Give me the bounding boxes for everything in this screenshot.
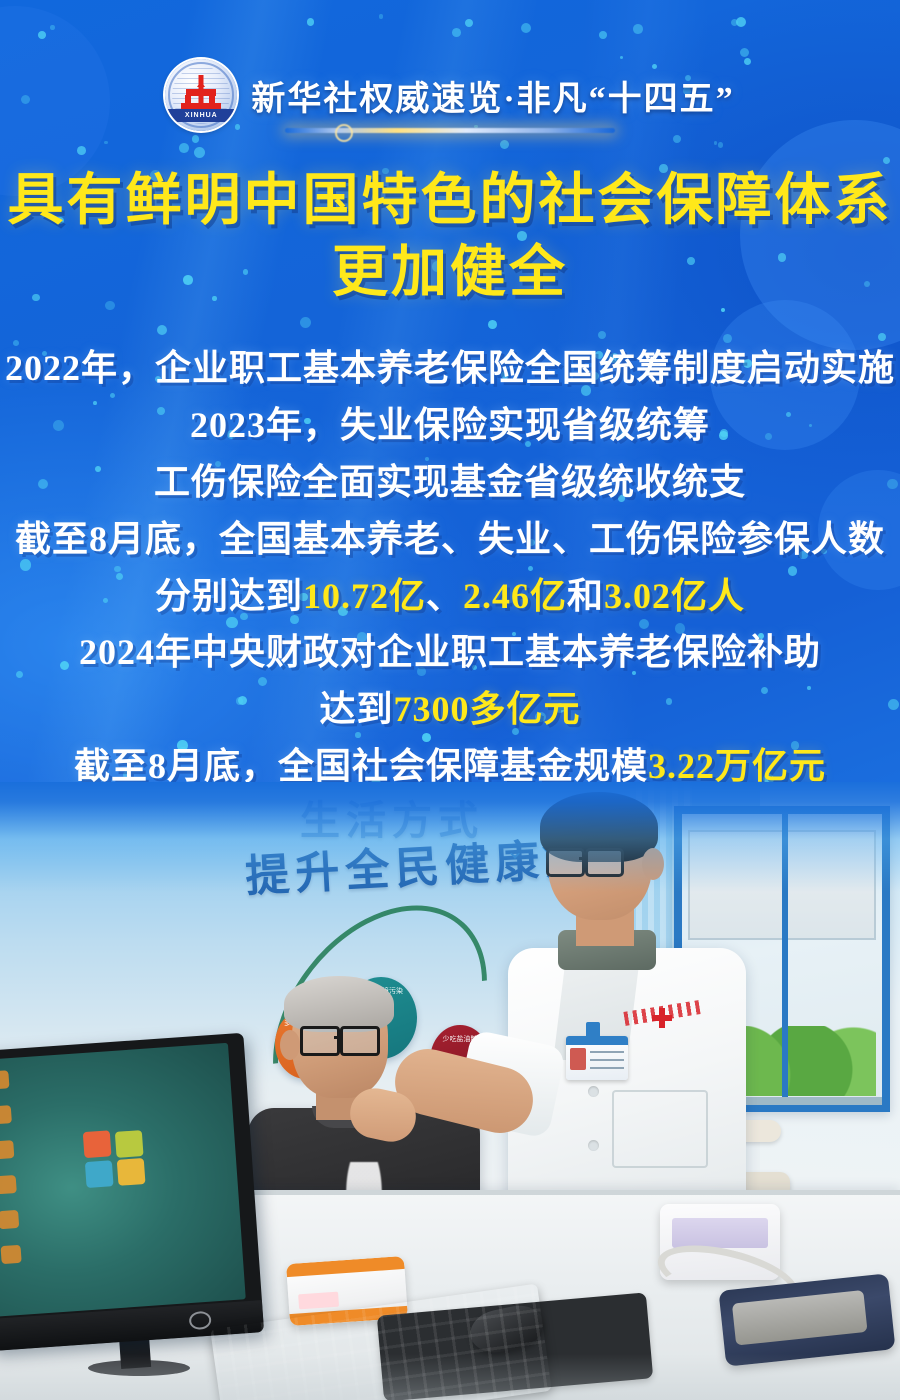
highlight-figure: 10.72亿 xyxy=(303,576,426,616)
body-text-segment: 2022年，企业职工基本养老保险全国统筹制度启动实施 xyxy=(5,348,895,388)
doctor-glasses-icon xyxy=(546,848,620,871)
body-text-segment: 截至8月底，全国基本养老、失业、工伤保险参保人数 xyxy=(15,519,885,559)
body-text-segment: 分别达到 xyxy=(155,576,303,616)
background-dot xyxy=(179,143,189,153)
body-text-segment: 达到 xyxy=(319,689,393,729)
background-dot xyxy=(599,31,607,39)
background-dot xyxy=(598,331,606,339)
body-text-line: 2024年中央财政对企业职工基本养老保险补助 xyxy=(0,624,900,681)
background-dot xyxy=(50,25,54,29)
highlight-figure: 7300多亿元 xyxy=(394,689,581,729)
background-dot xyxy=(731,19,738,26)
background-dot xyxy=(379,14,383,18)
highlight-figure: 3.02亿人 xyxy=(604,576,745,616)
body-text-segment: 2024年中央财政对企业职工基本养老保险补助 xyxy=(79,632,821,672)
patient-glasses-icon xyxy=(300,1026,376,1050)
background-dot xyxy=(194,147,205,158)
highlight-figure: 2.46亿 xyxy=(463,576,567,616)
background-dot xyxy=(38,31,46,39)
body-text-line: 2022年，企业职工基本养老保险全国统筹制度启动实施 xyxy=(0,340,900,397)
page-title: 具有鲜明中国特色的社会保障体系 更加健全 xyxy=(0,166,900,309)
header-divider xyxy=(285,128,615,133)
background-dot xyxy=(104,141,108,145)
body-text-line: 截至8月底，全国基本养老、失业、工伤保险参保人数 xyxy=(0,511,900,568)
page-title-line-1: 具有鲜明中国特色的社会保障体系 xyxy=(0,166,900,238)
body-text-line: 2023年，失业保险实现省级统筹 xyxy=(0,397,900,454)
body-text-line: 工伤保险全面实现基金省级统收统支 xyxy=(0,454,900,511)
body-text-line: 分别达到10.72亿、2.46亿和3.02亿人 xyxy=(0,568,900,625)
background-dot xyxy=(736,17,746,27)
poster-root: XINHUA 新华社权威速览·非凡“十四五” 具有鲜明中国特色的社会保障体系 更… xyxy=(0,0,900,1400)
background-dot xyxy=(488,320,497,329)
background-dot xyxy=(77,146,86,155)
computer-monitor xyxy=(0,1033,264,1352)
hp-brand-logo xyxy=(189,1311,212,1330)
background-dot xyxy=(500,140,509,149)
header: XINHUA 新华社权威速览·非凡“十四五” xyxy=(0,52,900,138)
body-text-segment: 2023年，失业保险实现省级统筹 xyxy=(190,405,710,445)
page-title-line-2: 更加健全 xyxy=(0,238,900,310)
body-text-segment: 工伤保险全面实现基金省级统收统支 xyxy=(154,462,746,502)
background-dot xyxy=(452,28,461,37)
background-dot xyxy=(714,141,717,144)
photo-panel: 生活方式 提升全民健康素质 多吃水果 蔬菜 减少 环境污染 少吃盐油糖 规律作息… xyxy=(0,782,900,1400)
windows-logo-icon xyxy=(82,1128,148,1190)
background-dot xyxy=(300,317,312,329)
background-dot xyxy=(633,24,643,34)
background-dot xyxy=(307,18,315,26)
body-text-line: 达到7300多亿元 xyxy=(0,681,900,738)
background-dot xyxy=(465,19,473,27)
body-text-segment: 、 xyxy=(426,576,463,616)
background-dot xyxy=(157,325,167,335)
background-dot xyxy=(883,157,890,164)
header-title: 新华社权威速览·非凡“十四五” xyxy=(251,71,734,120)
xinhua-logo-icon: XINHUA xyxy=(165,59,237,131)
doctor-id-badge xyxy=(566,1036,628,1080)
monitor-screen xyxy=(0,1043,246,1317)
background-dot xyxy=(521,23,531,33)
body-text-segment: 和 xyxy=(567,576,604,616)
body-text-block: 2022年，企业职工基本养老保险全国统筹制度启动实施2023年，失业保险实现省级… xyxy=(0,340,900,795)
body-text-segment: 截至8月底，全国社会保障基金规模 xyxy=(74,746,648,786)
highlight-figure: 3.22万亿元 xyxy=(648,746,826,786)
background-dot xyxy=(718,142,723,147)
clinic-scene: 生活方式 提升全民健康素质 多吃水果 蔬菜 减少 环境污染 少吃盐油糖 规律作息… xyxy=(0,782,900,1400)
hospital-logo-icon xyxy=(624,1006,700,1032)
logo-band-text: XINHUA xyxy=(185,112,218,119)
